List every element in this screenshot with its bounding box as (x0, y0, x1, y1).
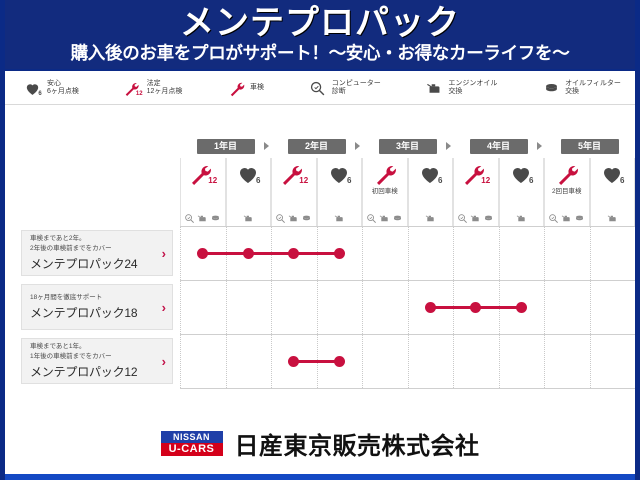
oil-can-icon (379, 211, 390, 222)
wrench-icon: 12 (279, 162, 308, 186)
service-legend: 6安心6ヶ月点検12法定12ヶ月点検車検コンピューター診断エンジンオイル交換オイ… (5, 71, 635, 105)
oil-can-icon (470, 211, 481, 222)
page-subtitle: 購入後のお車をプロがサポート！～安心・お得なカーライフを～ (5, 43, 635, 63)
service-column-9: 2回目車検 (544, 158, 590, 226)
service-mini-icons (425, 207, 436, 226)
header-banner: メンテプロパック 購入後のお車をプロがサポート！～安心・お得なカーライフを～ (5, 0, 635, 71)
legend-label-line1: オイルフィルター (565, 80, 621, 89)
triangle-right-icon (537, 142, 542, 150)
service-icon-group: 12 (461, 158, 490, 207)
chevron-right-icon[interactable]: › (162, 300, 166, 315)
service-icon-group: 6 (327, 158, 351, 207)
grid-divider (180, 226, 181, 388)
service-column-1: 12 (180, 158, 226, 226)
service-icon-group: 6 (600, 158, 624, 207)
nissan-ucars-logo: NISSAN U-CARS (161, 431, 223, 456)
coverage-dot-2-0 (288, 356, 299, 367)
legend-label-line2: 12ヶ月点検 (147, 88, 183, 97)
oil-can-icon (197, 211, 208, 222)
service-mini-icons (275, 207, 312, 226)
package-name: メンテプロパック24 (30, 255, 159, 272)
wrench-icon (555, 162, 579, 186)
grid-divider (544, 226, 545, 388)
legend-label-line2: 診断 (332, 88, 381, 97)
magnifier-icon (548, 211, 559, 222)
grid-divider (226, 226, 227, 388)
service-mini-icons (548, 207, 585, 226)
wrench-icon (226, 79, 246, 97)
coverage-bar-2 (294, 360, 340, 363)
service-mini-icons (184, 207, 221, 226)
ucars-logo-text: U-CARS (161, 443, 223, 456)
grid-divider (408, 226, 409, 388)
service-icon-group: 6 (509, 158, 533, 207)
legend-item-1: 12法定12ヶ月点検 (123, 79, 183, 97)
magnifier-icon (275, 211, 286, 222)
service-column-5: 初回車検 (362, 158, 408, 226)
row-separator-2 (180, 334, 635, 335)
infographic-page: メンテプロパック 購入後のお車をプロがサポート！～安心・お得なカーライフを～ 6… (0, 0, 640, 480)
package-desc-line2: 1年後の車検前までをカバー (30, 352, 159, 361)
service-column-7: 12 (453, 158, 499, 226)
legend-item-label: エンジンオイル交換 (448, 80, 497, 98)
coverage-dot-0-2 (288, 248, 299, 259)
service-column-8: 6 (499, 158, 545, 226)
oil-can-icon (424, 79, 444, 97)
service-icon-group: 2回目車検 (552, 158, 582, 207)
package-desc-line2: 2年後の車検前までをカバー (30, 244, 159, 253)
service-column-6: 6 (408, 158, 454, 226)
chevron-right-icon[interactable]: › (162, 246, 166, 261)
legend-item-label: 車検 (250, 84, 264, 93)
year-label-2: 2年目 (288, 139, 346, 154)
oil-filter-icon (483, 211, 494, 222)
grid-divider (317, 226, 318, 388)
year-axis: 1年目2年目3年目4年目5年目 (5, 137, 640, 159)
grid-divider (362, 226, 363, 388)
service-mini-icons (607, 207, 618, 226)
coverage-dot-0-3 (334, 248, 345, 259)
service-icon-group: 6 (418, 158, 442, 207)
grid-divider (590, 226, 591, 388)
service-column-3: 12 (271, 158, 317, 226)
service-mini-icons (516, 207, 527, 226)
legend-label-line1: コンピューター (332, 80, 381, 89)
coverage-bar-0 (203, 252, 340, 255)
legend-item-2: 車検 (226, 79, 264, 97)
page-title: メンテプロパック (5, 6, 635, 42)
coverage-dot-1-2 (516, 302, 527, 313)
row-separator-0 (180, 226, 635, 227)
service-column-2: 6 (226, 158, 272, 226)
legend-item-4: エンジンオイル交換 (424, 79, 497, 97)
legend-label-line1: 法定 (147, 80, 183, 89)
inspection-label: 初回車検 (372, 185, 398, 195)
heart-icon: 6 (236, 162, 260, 186)
grid-divider (271, 226, 272, 388)
oil-can-icon (288, 211, 299, 222)
oil-filter-icon (301, 211, 312, 222)
oil-filter-icon (210, 211, 221, 222)
service-column-10: 6 (590, 158, 636, 226)
magnifier-icon (184, 211, 195, 222)
legend-label-line2: 交換 (448, 88, 497, 97)
service-column-4: 6 (317, 158, 363, 226)
oil-filter-icon (574, 211, 585, 222)
chevron-right-icon[interactable]: › (162, 354, 166, 369)
service-mini-icons (457, 207, 494, 226)
triangle-right-icon (446, 142, 451, 150)
service-mini-icons (366, 207, 403, 226)
row-separator-1 (180, 280, 635, 281)
nissan-logo-text: NISSAN (161, 431, 223, 443)
legend-label-line1: 安心 (47, 80, 79, 89)
triangle-right-icon (355, 142, 360, 150)
oil-can-icon (516, 211, 527, 222)
coverage-dot-0-0 (197, 248, 208, 259)
service-mini-icons (243, 207, 254, 226)
package-card-1[interactable]: 18ヶ月間を徹底サポートメンテプロパック18› (21, 284, 173, 330)
package-text: 車検まであと1年。1年後の車検前までをカバーメンテプロパック12 (30, 342, 159, 380)
legend-item-label: 安心6ヶ月点検 (47, 80, 79, 98)
oil-can-icon (561, 211, 572, 222)
coverage-dot-2-1 (334, 356, 345, 367)
legend-item-0: 6安心6ヶ月点検 (23, 79, 79, 97)
service-mini-icons (334, 207, 345, 226)
heart-icon: 6 (23, 79, 43, 97)
service-icon-group: 12 (279, 158, 308, 207)
legend-item-label: コンピューター診断 (332, 80, 381, 98)
coverage-dot-0-1 (243, 248, 254, 259)
oil-can-icon (425, 211, 436, 222)
heart-icon: 6 (600, 162, 624, 186)
row-separator-3 (180, 388, 635, 389)
oil-filter-icon (541, 79, 561, 97)
service-grid: 126126初回車検61262回目車検6 (180, 158, 635, 388)
legend-item-3: コンピューター診断 (308, 79, 381, 97)
package-text: 18ヶ月間を徹底サポートメンテプロパック18 (30, 293, 159, 321)
legend-item-5: オイルフィルター交換 (541, 79, 621, 97)
wrench-icon: 12 (461, 162, 490, 186)
year-label-5: 5年目 (561, 139, 619, 154)
legend-item-label: 法定12ヶ月点検 (147, 80, 183, 98)
package-card-2[interactable]: 車検まであと1年。1年後の車検前までをカバーメンテプロパック12› (21, 338, 173, 384)
legend-label-line1: 車検 (250, 84, 264, 93)
heart-icon: 6 (418, 162, 442, 186)
package-card-0[interactable]: 車検まであと2年。2年後の車検前までをカバーメンテプロパック24› (21, 230, 173, 276)
heart-icon: 6 (509, 162, 533, 186)
wrench-icon (373, 162, 397, 186)
year-label-3: 3年目 (379, 139, 437, 154)
package-text: 車検まであと2年。2年後の車検前までをカバーメンテプロパック24 (30, 234, 159, 272)
oil-filter-icon (392, 211, 403, 222)
magnifier-icon (457, 211, 468, 222)
triangle-right-icon (264, 142, 269, 150)
company-name: 日産東京販売株式会社 (235, 426, 480, 461)
service-icon-group: 6 (236, 158, 260, 207)
magnifier-icon (308, 79, 328, 97)
wrench-icon: 12 (123, 79, 143, 97)
year-label-1: 1年目 (197, 139, 255, 154)
package-name: メンテプロパック12 (30, 363, 159, 380)
package-desc-line1: 車検まであと2年。 (30, 234, 159, 243)
legend-label-line2: 6ヶ月点検 (47, 88, 79, 97)
package-desc-line1: 18ヶ月間を徹底サポート (30, 293, 159, 302)
magnifier-icon (366, 211, 377, 222)
inspection-label: 2回目車検 (552, 185, 582, 195)
year-label-4: 4年目 (470, 139, 528, 154)
footer: NISSAN U-CARS 日産東京販売株式会社 (5, 412, 635, 480)
legend-item-label: オイルフィルター交換 (565, 80, 621, 98)
coverage-dot-1-0 (425, 302, 436, 313)
oil-can-icon (243, 211, 254, 222)
service-icon-group: 12 (188, 158, 217, 207)
service-icon-group: 初回車検 (372, 158, 398, 207)
package-desc-line1: 車検まであと1年。 (30, 342, 159, 351)
oil-can-icon (607, 211, 618, 222)
package-name: メンテプロパック18 (30, 304, 159, 321)
wrench-icon: 12 (188, 162, 217, 186)
heart-icon: 6 (327, 162, 351, 186)
oil-can-icon (334, 211, 345, 222)
legend-label-line1: エンジンオイル (448, 80, 497, 89)
legend-label-line2: 交換 (565, 88, 621, 97)
coverage-dot-1-1 (470, 302, 481, 313)
